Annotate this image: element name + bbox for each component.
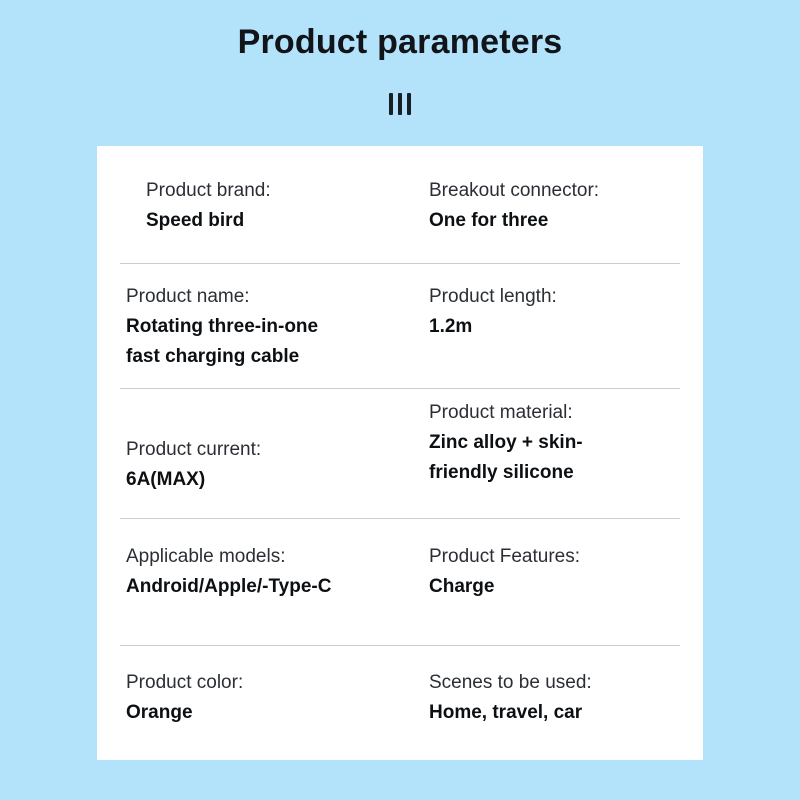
spec-label: Product current: [126, 435, 426, 465]
spec-cell-product-color: Product color: Orange [126, 668, 426, 728]
spec-cell-product-length: Product length: 1.2m [429, 282, 689, 342]
spec-label: Breakout connector: [429, 176, 689, 206]
spec-value: Orange [126, 698, 426, 728]
spec-label: Product length: [429, 282, 689, 312]
spec-label: Product brand: [146, 176, 446, 206]
ornament-bar-1 [389, 93, 393, 115]
spec-table: Product brand: Speed bird Breakout conne… [97, 146, 703, 760]
spec-value: Speed bird [146, 206, 446, 236]
spec-value: 1.2m [429, 312, 689, 342]
spec-cell-product-material: Product material: Zinc alloy + skin-frie… [429, 398, 689, 488]
table-row: Product color: Orange Scenes to be used:… [97, 645, 703, 760]
spec-cell-scenes-to-be-used: Scenes to be used: Home, travel, car [429, 668, 689, 728]
spec-label: Product material: [429, 398, 689, 428]
spec-cell-product-current: Product current: 6A(MAX) [126, 435, 426, 495]
spec-value: Android/Apple/-Type-C [126, 572, 341, 602]
spec-label: Scenes to be used: [429, 668, 689, 698]
spec-label: Product color: [126, 668, 426, 698]
spec-value: Zinc alloy + skin-friendly silicone [429, 428, 634, 488]
ornament-bar-3 [407, 93, 411, 115]
ornament-bar-2 [398, 93, 402, 115]
title-divider-ornament [0, 93, 800, 115]
table-row: Product current: 6A(MAX) Product materia… [97, 388, 703, 518]
spec-value: Charge [429, 572, 689, 602]
spec-label: Applicable models: [126, 542, 426, 572]
spec-cell-product-features: Product Features: Charge [429, 542, 689, 602]
spec-cell-applicable-models: Applicable models: Android/Apple/-Type-C [126, 542, 426, 602]
page-title: Product parameters [0, 20, 800, 64]
spec-cell-breakout-connector: Breakout connector: One for three [429, 176, 689, 236]
spec-value: Home, travel, car [429, 698, 689, 728]
spec-card: Product brand: Speed bird Breakout conne… [97, 146, 703, 760]
spec-cell-product-name: Product name: Rotating three-in-one fast… [126, 282, 426, 372]
table-row: Product brand: Speed bird Breakout conne… [97, 146, 703, 263]
spec-value: One for three [429, 206, 689, 236]
table-row: Applicable models: Android/Apple/-Type-C… [97, 518, 703, 645]
spec-value: Rotating three-in-one fast charging cabl… [126, 312, 341, 372]
spec-value: 6A(MAX) [126, 465, 426, 495]
table-row: Product name: Rotating three-in-one fast… [97, 263, 703, 388]
spec-label: Product name: [126, 282, 426, 312]
spec-cell-product-brand: Product brand: Speed bird [146, 176, 446, 236]
spec-label: Product Features: [429, 542, 689, 572]
